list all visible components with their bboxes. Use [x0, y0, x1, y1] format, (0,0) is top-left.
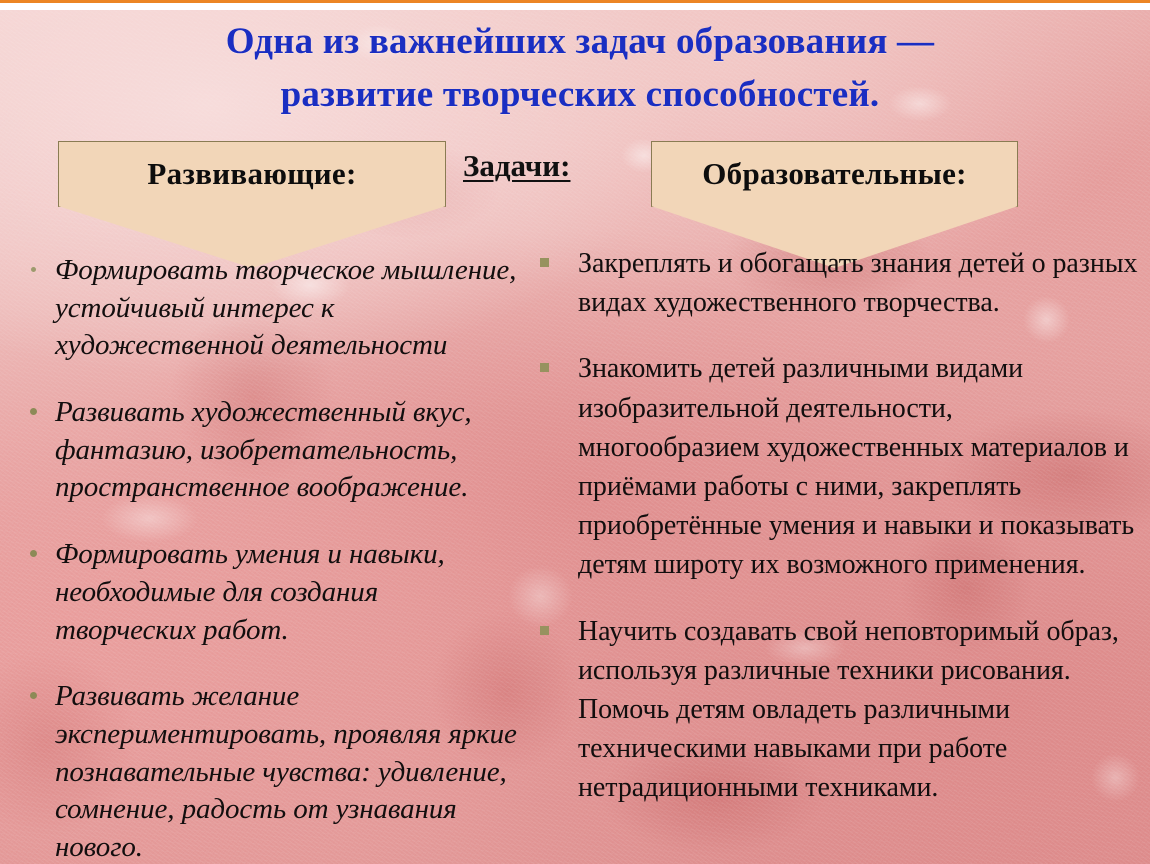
- bullet-square-icon: [540, 626, 549, 635]
- bullet-dot-icon: [30, 550, 37, 557]
- slide-title-line-1: Одна из важнейших задач образования —: [120, 16, 1040, 69]
- list-item: Знакомить детей различными видами изобра…: [528, 349, 1138, 584]
- slide-title-line-2: развитие творческих способностей.: [120, 69, 1040, 122]
- list-item-text: Формировать умения и навыки, необходимые…: [55, 536, 520, 649]
- tasks-heading: Задачи:: [463, 148, 570, 184]
- banner-arrow-developmental-label: Развивающие:: [59, 156, 445, 192]
- list-item: Закреплять и обогащать знания детей о ра…: [528, 244, 1138, 322]
- bullet-dot-icon: [31, 267, 36, 272]
- list-item: Формировать творческое мышление, устойчи…: [8, 252, 520, 365]
- list-item: Научить создавать свой неповторимый обра…: [528, 612, 1138, 808]
- bullet-square-icon: [540, 258, 549, 267]
- list-item-text: Развивать художественный вкус, фантазию,…: [55, 394, 520, 507]
- list-item: Формировать умения и навыки, необходимые…: [8, 536, 520, 649]
- bullet-dot-icon: [30, 408, 37, 415]
- slide-canvas: Одна из важнейших задач образования — ра…: [0, 0, 1150, 864]
- list-item: Развивать художественный вкус, фантазию,…: [8, 394, 520, 507]
- list-item-text: Формировать творческое мышление, устойчи…: [55, 252, 520, 365]
- banner-arrow-educational-label: Образовательные:: [652, 156, 1017, 192]
- list-item-text: Закреплять и обогащать знания детей о ра…: [578, 244, 1138, 322]
- slide-title: Одна из важнейших задач образования — ра…: [120, 16, 1040, 121]
- list-item-text: Научить создавать свой неповторимый обра…: [578, 612, 1138, 808]
- bullet-square-icon: [540, 363, 549, 372]
- developmental-tasks-list: Формировать творческое мышление, устойчи…: [8, 252, 520, 864]
- banner-arrow-developmental: Развивающие:: [58, 141, 446, 207]
- educational-tasks-list: Закреплять и обогащать знания детей о ра…: [528, 244, 1138, 834]
- top-white-band: [0, 3, 1150, 10]
- list-item-text: Знакомить детей различными видами изобра…: [578, 349, 1138, 584]
- banner-arrow-educational: Образовательные:: [651, 141, 1018, 207]
- bullet-dot-icon: [30, 692, 37, 699]
- list-item: Развивать желание экспериментировать, пр…: [8, 678, 520, 864]
- list-item-text: Развивать желание экспериментировать, пр…: [55, 678, 520, 864]
